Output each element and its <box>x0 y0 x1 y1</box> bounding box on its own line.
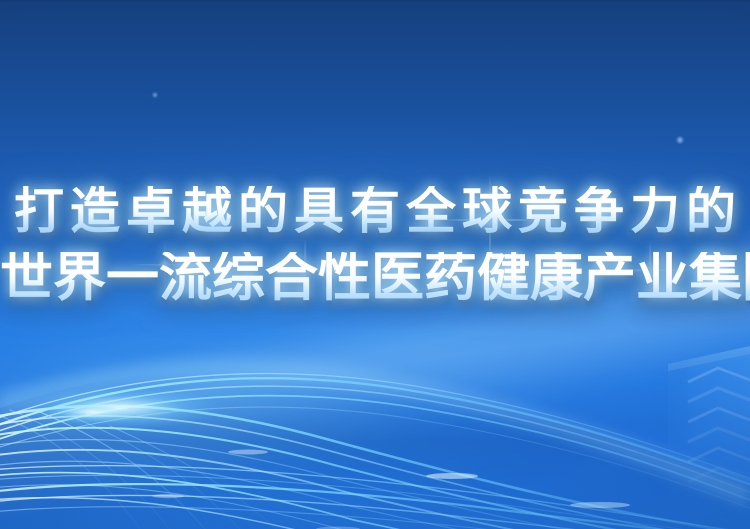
hero-banner: 打造卓越的具有全球竞争力的 世界一流综合性医药健康产业集团 打造卓越的具有全球竞… <box>0 0 750 529</box>
headline-line-1: 打造卓越的具有全球竞争力的 <box>0 186 750 236</box>
headline-line-2: 世界一流综合性医药健康产业集团 <box>0 252 750 305</box>
headline-block: 打造卓越的具有全球竞争力的 世界一流综合性医药健康产业集团 打造卓越的具有全球竞… <box>0 0 750 529</box>
